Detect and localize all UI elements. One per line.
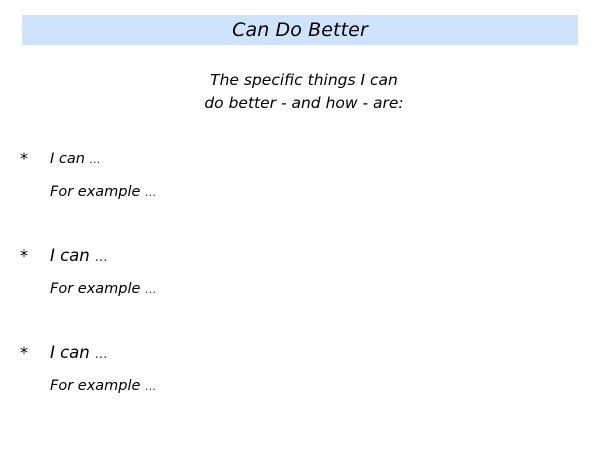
bullet-main-text: I can …	[50, 245, 108, 269]
bullet-sub-text: For example …	[50, 182, 157, 203]
bullet-main-label: I can	[50, 246, 95, 265]
bullet-sub-label: For example	[50, 378, 145, 394]
bullet-list: * I can … For example … * I can … For ex…	[0, 148, 600, 342]
list-item: * I can … For example …	[0, 245, 600, 342]
slide-canvas: Can Do Better The specific things I can …	[0, 0, 600, 450]
bullet-main-ellipsis: …	[90, 153, 102, 166]
bullet-sub-ellipsis: …	[145, 380, 157, 393]
bullet-main-text: I can …	[50, 148, 101, 171]
bullet-main-ellipsis: …	[95, 347, 108, 362]
bullet-marker-icon: *	[20, 148, 28, 170]
bullet-main-ellipsis: …	[95, 250, 108, 265]
bullet-sub-text: For example …	[50, 376, 157, 397]
bullet-sub-text: For example …	[50, 279, 157, 300]
bullet-sub-ellipsis: …	[145, 283, 157, 296]
bullet-sub-label: For example	[50, 281, 145, 297]
subtitle-line-2: do better - and how - are:	[8, 92, 600, 115]
bullet-main-label: I can	[50, 151, 90, 167]
bullet-sub-ellipsis: …	[145, 186, 157, 199]
title-band: Can Do Better	[22, 15, 578, 45]
subtitle-line-1: The specific things I can	[8, 69, 600, 92]
page-title: Can Do Better	[232, 21, 368, 40]
bullet-main-label: I can	[50, 343, 95, 362]
bullet-main-text: I can …	[50, 342, 108, 366]
bullet-marker-icon: *	[20, 342, 28, 364]
list-item: * I can … For example …	[0, 148, 600, 245]
bullet-sub-label: For example	[50, 184, 145, 200]
bullet-marker-icon: *	[20, 245, 28, 267]
subtitle-block: The specific things I can do better - an…	[0, 69, 600, 115]
